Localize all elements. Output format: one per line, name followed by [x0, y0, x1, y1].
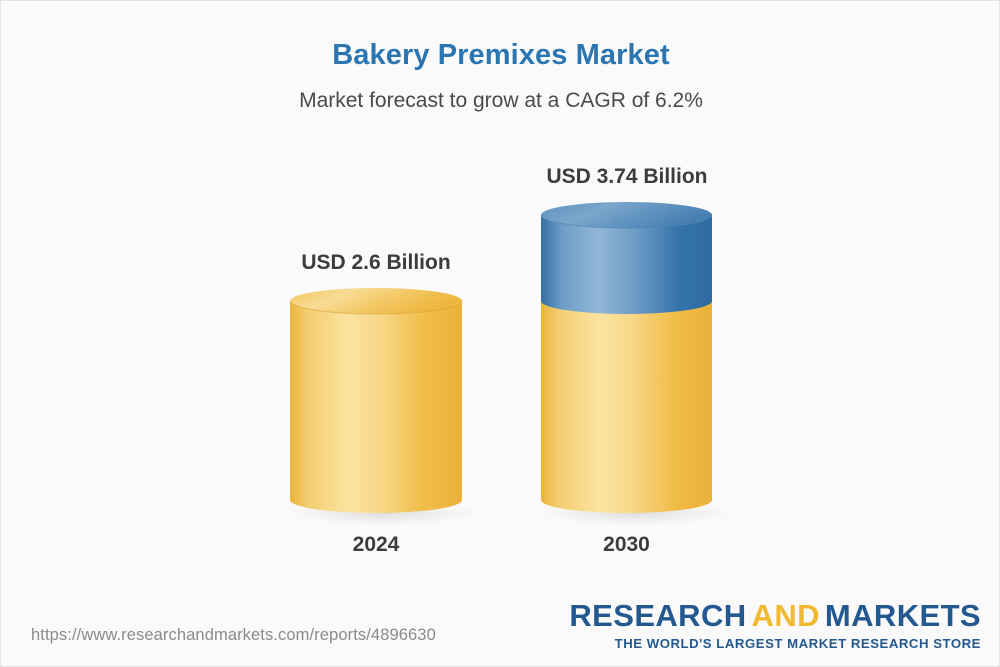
- bar-2024-cap-edge: [290, 288, 462, 314]
- infographic-canvas: Bakery Premixes Market Market forecast t…: [0, 0, 1000, 667]
- bar-2024-top-cap: [290, 288, 462, 314]
- bar-2030-top-cap: [541, 202, 712, 228]
- bar-2024-body: [290, 301, 462, 513]
- bar-2030-cap-edge: [541, 202, 712, 228]
- category-label-2030: 2030: [541, 533, 712, 557]
- brand-word-and: AND: [752, 598, 820, 633]
- category-label-2024: 2024: [290, 533, 462, 557]
- bar-2030-value-label: USD 3.74 Billion: [506, 165, 748, 189]
- brand-word-research: RESEARCH: [569, 598, 746, 633]
- bar-2030: [541, 202, 712, 513]
- brand-tagline: THE WORLD'S LARGEST MARKET RESEARCH STOR…: [569, 637, 981, 650]
- bar-2030-base-segment: [541, 301, 712, 513]
- brand-logo: RESEARCHANDMARKETS THE WORLD'S LARGEST M…: [569, 600, 981, 650]
- bar-2030-growth-segment: [541, 215, 712, 314]
- brand-wordmark: RESEARCHANDMARKETS: [569, 600, 981, 631]
- page-title: Bakery Premixes Market: [1, 39, 1000, 72]
- source-url[interactable]: https://www.researchandmarkets.com/repor…: [31, 626, 436, 645]
- bar-2024-value-label: USD 2.6 Billion: [255, 251, 497, 275]
- chart-subtitle: Market forecast to grow at a CAGR of 6.2…: [1, 89, 1000, 113]
- bar-2024: [290, 288, 462, 513]
- right-cylinder-shadow: [535, 500, 735, 526]
- brand-word-markets: MARKETS: [825, 598, 981, 633]
- left-cylinder-shadow: [284, 500, 484, 526]
